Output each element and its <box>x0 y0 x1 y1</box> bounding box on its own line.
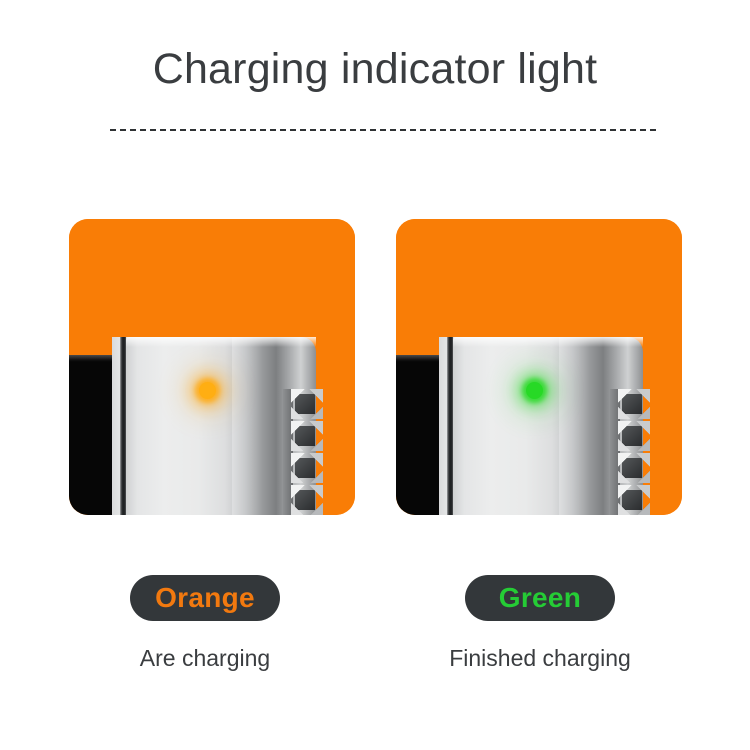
notch-bevel <box>291 485 323 515</box>
connector-notched-contacts <box>618 389 650 515</box>
notch-segment <box>291 453 323 483</box>
notch-bevel <box>618 485 650 515</box>
notch-bevel <box>618 453 650 483</box>
infographic-page: Charging indicator light <box>0 0 750 750</box>
page-title: Charging indicator light <box>0 46 750 93</box>
notch-bevel <box>291 389 323 419</box>
connector-notched-contacts <box>291 389 323 515</box>
notch-segment <box>618 485 650 515</box>
notch-segment <box>618 389 650 419</box>
panels-row <box>0 219 750 515</box>
product-photo-panel-green <box>396 219 682 515</box>
notch-segment <box>618 421 650 451</box>
charging-led-orange <box>199 382 216 399</box>
notch-segment <box>618 453 650 483</box>
notch-segment <box>291 389 323 419</box>
notch-bevel <box>618 389 650 419</box>
notch-segment <box>291 421 323 451</box>
status-badge-green: Green <box>465 575 615 621</box>
caption-are-charging: Are charging <box>60 645 350 672</box>
status-badge-orange: Orange <box>130 575 280 621</box>
notch-bevel <box>291 453 323 483</box>
caption-finished-charging: Finished charging <box>395 645 685 672</box>
dashed-divider <box>110 129 656 131</box>
notch-segment <box>291 485 323 515</box>
charging-led-green <box>526 382 543 399</box>
notch-bevel <box>291 421 323 451</box>
status-badge-orange-label: Orange <box>155 582 255 614</box>
notch-bevel <box>618 421 650 451</box>
status-badge-green-label: Green <box>499 582 581 614</box>
product-photo-panel-orange <box>69 219 355 515</box>
